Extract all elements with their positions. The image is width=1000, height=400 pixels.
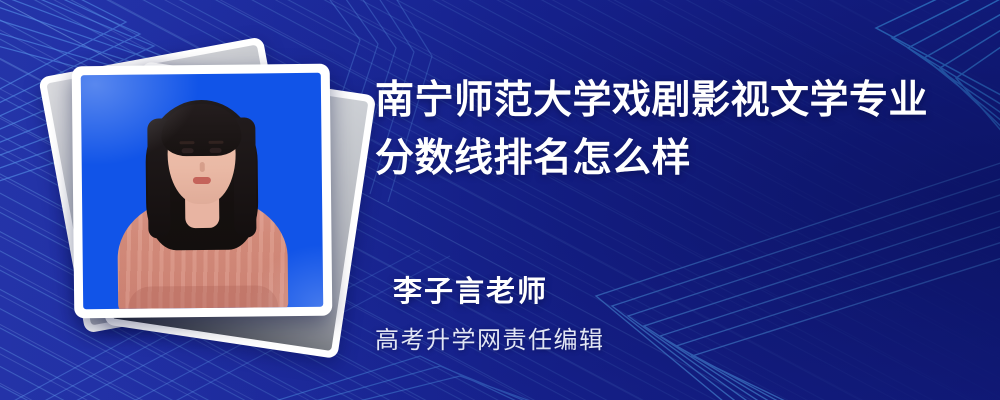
portrait-backdrop-sheen <box>81 73 323 310</box>
portrait-photo-stack <box>52 35 352 365</box>
article-cover-banner: 南宁师范大学戏剧影视文学专业分数线排名怎么样 李子言老师 高考升学网责任编辑 <box>0 0 1000 400</box>
author-name: 李子言老师 <box>393 268 548 310</box>
author-portrait-photo <box>81 73 323 310</box>
photo-card-front <box>72 64 333 319</box>
banner-text-column: 南宁师范大学戏剧影视文学专业分数线排名怎么样 李子言老师 高考升学网责任编辑 <box>375 0 975 400</box>
article-headline: 南宁师范大学戏剧影视文学专业分数线排名怎么样 <box>375 72 960 188</box>
author-role: 高考升学网责任编辑 <box>375 320 605 355</box>
